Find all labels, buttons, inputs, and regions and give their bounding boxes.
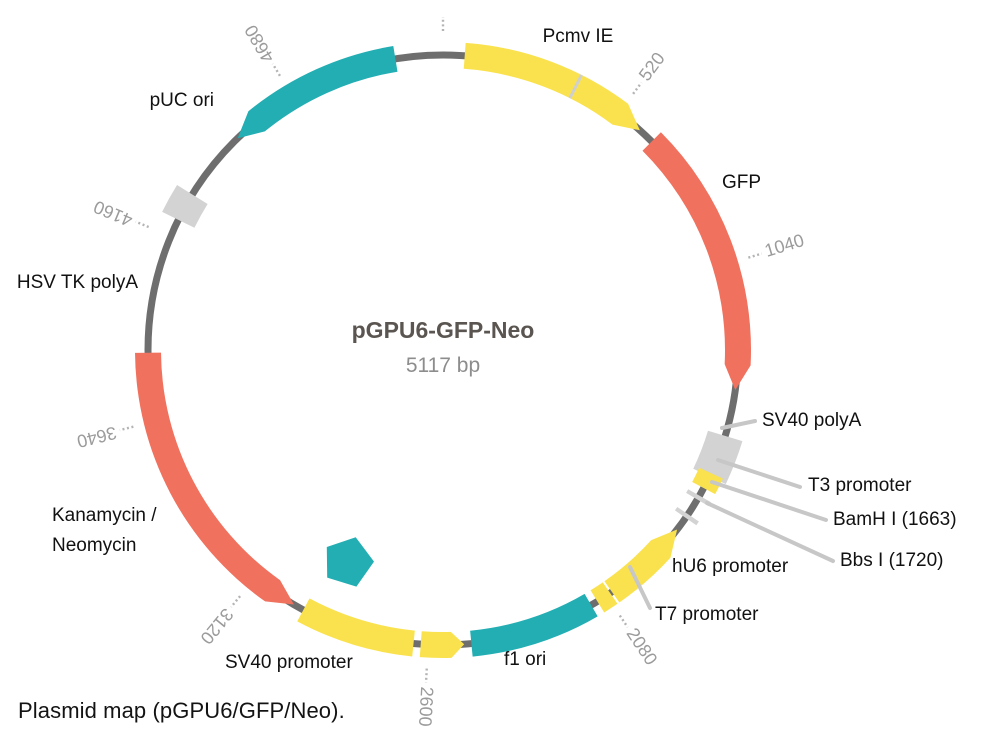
plasmid-map-canvas: 5201040208026003120364041604680 pUC oriP… (0, 0, 982, 744)
label-bbs-i-1720: Bbs I (1720) (840, 550, 944, 571)
tick-label-3640: 3640 (75, 423, 119, 452)
feature-layer[interactable] (135, 43, 751, 658)
feature-sv40-promoter-arrow[interactable] (420, 631, 464, 658)
tick-mark-3640 (120, 427, 134, 430)
feature-sv40-promoter[interactable] (297, 598, 415, 656)
feature-f1-ori[interactable] (470, 594, 598, 657)
tick-mark-3120 (231, 596, 240, 607)
plasmid-name: pGPU6-GFP-Neo (352, 317, 535, 343)
tick-mark-520 (633, 83, 641, 94)
tick-label-2600: 2600 (415, 686, 437, 727)
tick-mark-4160 (136, 222, 149, 227)
tick-label-1040: 1040 (762, 230, 806, 261)
label-pcmv-ie: Pcmv IE (543, 26, 614, 47)
label-t3-promoter: T3 promoter (808, 475, 912, 496)
feature-gfp[interactable] (642, 132, 751, 390)
label-puc-ori: pUC ori (150, 90, 214, 111)
label-hsv-tk-polya: HSV TK polyA (17, 272, 138, 293)
tick-label-520: 520 (635, 49, 669, 85)
tick-label-4160: 4160 (91, 197, 136, 231)
marker-pentagon-icon[interactable] (327, 537, 374, 586)
label-t7-promoter: T7 promoter (655, 604, 759, 625)
label-hu6-promoter: hU6 promoter (672, 556, 789, 577)
feature-label-layer: pUC oriPcmv IEGFPSV40 polyAT3 promoterBa… (17, 26, 957, 673)
label-f1-ori: f1 ori (504, 649, 546, 670)
marker-layer (327, 537, 374, 586)
tick-label-3120: 3120 (196, 604, 237, 648)
tick-mark-4680 (273, 64, 280, 76)
tick-mark-2600 (426, 669, 427, 683)
tick-label-2080: 2080 (623, 624, 662, 668)
leader-bbsi (707, 503, 833, 561)
label-sv40-polya: SV40 polyA (762, 410, 862, 431)
tick-mark-1040 (748, 254, 761, 258)
label-kanamycin-neomycin: Kanamycin /Neomycin (52, 505, 157, 556)
plasmid-size: 5117 bp (406, 354, 480, 377)
figure-caption: Plasmid map (pGPU6/GFP/Neo). (18, 698, 345, 724)
feature-pcmv-ie[interactable] (464, 43, 640, 130)
feature-hsv-tk-polya[interactable] (162, 185, 207, 228)
feature-kanamycin-neomycin[interactable] (135, 353, 294, 605)
label-bamh-i-1663: BamH I (1663) (833, 509, 957, 530)
label-gfp: GFP (722, 172, 761, 193)
label-sv40-promoter: SV40 promoter (225, 652, 353, 673)
center-text: pGPU6-GFP-Neo 5117 bp (352, 317, 535, 377)
tick-label-4680: 4680 (241, 21, 279, 66)
tick-mark-2080 (620, 616, 628, 628)
plasmid-map-svg: 5201040208026003120364041604680 pUC oriP… (0, 0, 982, 744)
